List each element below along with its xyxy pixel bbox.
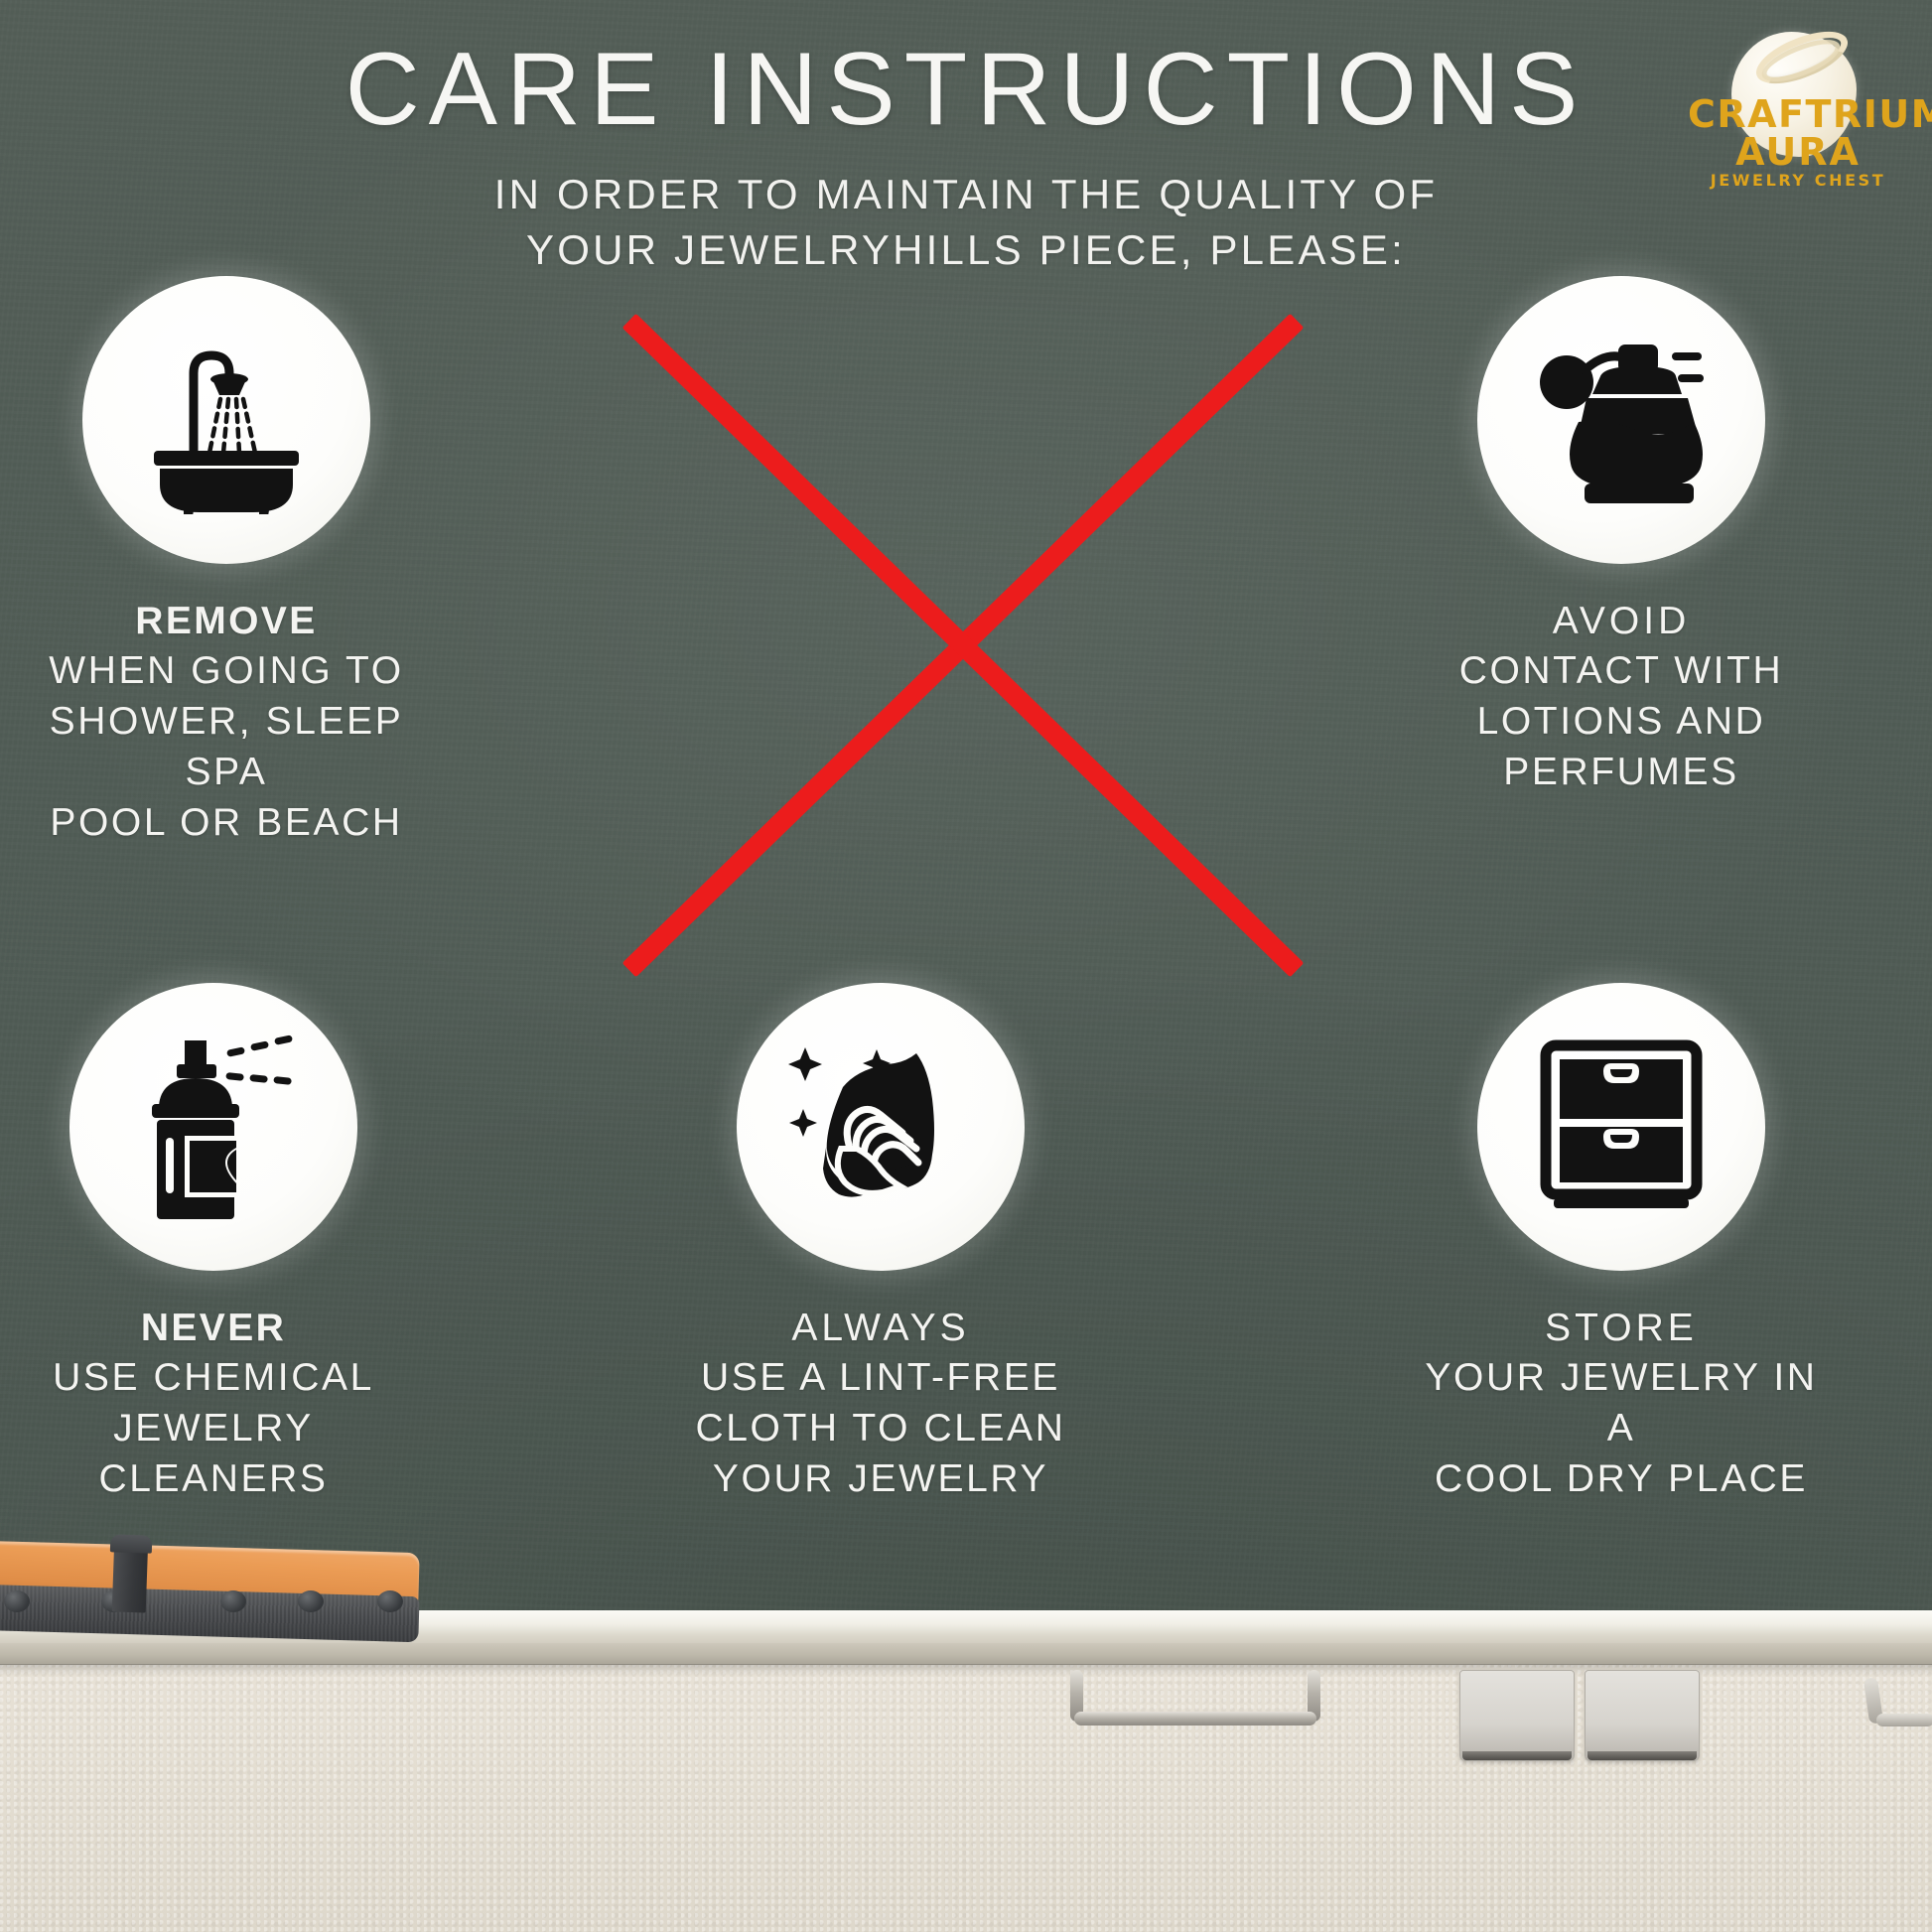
infographic-canvas: CARE INSTRUCTIONS IN ORDER TO MAINTAIN T…: [0, 0, 1932, 1932]
caption-heading: NEVER: [0, 1303, 427, 1353]
hand-polishing-cloth-icon: [783, 1037, 978, 1216]
page-title: CARE INSTRUCTIONS: [0, 36, 1932, 144]
caption-line: YOUR JEWELRY IN A: [1408, 1353, 1835, 1453]
caption-remove: REMOVE WHEN GOING TO SHOWER, SLEEP SPA P…: [13, 596, 440, 848]
caption-heading: AVOID: [1408, 596, 1835, 646]
caption-line: POOL OR BEACH: [13, 798, 440, 849]
bathtub-shower-icon: [132, 326, 321, 514]
icon-badge-always: [737, 983, 1025, 1271]
perfume-bottle-icon: [1527, 331, 1716, 509]
metal-handle-partial: [1866, 1670, 1926, 1727]
icon-badge-remove: [82, 276, 370, 564]
icon-badge-avoid: [1477, 276, 1765, 564]
caption-line: CLEANERS: [0, 1454, 427, 1505]
subtitle-line-1: IN ORDER TO MAINTAIN THE QUALITY OF: [0, 167, 1932, 222]
nightstand-drawers-icon: [1532, 1037, 1711, 1216]
magnet-clip-left: [1459, 1670, 1575, 1761]
caption-line: CONTACT WITH: [1408, 646, 1835, 697]
brand-name-line-1: CRAFTRIUM: [1688, 95, 1908, 133]
page-subtitle: IN ORDER TO MAINTAIN THE QUALITY OF YOUR…: [0, 167, 1932, 278]
care-item-always: ALWAYS USE A LINT-FREE CLOTH TO CLEAN YO…: [667, 983, 1094, 1505]
icon-badge-store: [1477, 983, 1765, 1271]
caption-line: JEWELRY: [0, 1404, 427, 1454]
caption-heading: REMOVE: [13, 596, 440, 646]
care-item-avoid: AVOID CONTACT WITH LOTIONS AND PERFUMES: [1408, 276, 1835, 798]
caption-heading: ALWAYS: [667, 1303, 1094, 1353]
care-item-never: NEVER USE CHEMICAL JEWELRY CLEANERS: [0, 983, 427, 1505]
care-item-remove: REMOVE WHEN GOING TO SHOWER, SLEEP SPA P…: [13, 276, 440, 848]
caption-body: USE CHEMICAL JEWELRY CLEANERS: [0, 1353, 427, 1504]
caption-always: ALWAYS USE A LINT-FREE CLOTH TO CLEAN YO…: [667, 1303, 1094, 1505]
handle-grip: [1876, 1714, 1932, 1726]
caption-line: USE A LINT-FREE: [667, 1353, 1094, 1404]
chalkboard-eraser: [0, 1547, 429, 1654]
caption-line: PERFUMES: [1408, 748, 1835, 798]
handle-grip-bar: [1074, 1712, 1316, 1725]
caption-line: YOUR JEWELRY: [667, 1454, 1094, 1505]
brand-logo[interactable]: CRAFTRIUM AURA JEWELRY CHEST: [1688, 22, 1908, 201]
caption-body: CONTACT WITH LOTIONS AND PERFUMES: [1408, 646, 1835, 797]
icon-badge-never: [69, 983, 357, 1271]
caption-line: CLOTH TO CLEAN: [667, 1404, 1094, 1454]
eraser-strap: [112, 1538, 149, 1612]
brand-tagline: JEWELRY CHEST: [1688, 173, 1908, 189]
care-item-store: STORE YOUR JEWELRY IN A COOL DRY PLACE: [1408, 983, 1835, 1505]
caption-avoid: AVOID CONTACT WITH LOTIONS AND PERFUMES: [1408, 596, 1835, 798]
red-x-cross-icon: [616, 308, 1311, 983]
caption-line: USE CHEMICAL: [0, 1353, 427, 1404]
caption-body: USE A LINT-FREE CLOTH TO CLEAN YOUR JEWE…: [667, 1353, 1094, 1504]
caption-line: COOL DRY PLACE: [1408, 1454, 1835, 1505]
magnet-clip-right: [1585, 1670, 1700, 1761]
subtitle-line-2: YOUR JEWELRYHILLS PIECE, PLEASE:: [0, 222, 1932, 278]
brand-name-line-2: AURA: [1688, 133, 1908, 171]
caption-line: LOTIONS AND: [1408, 697, 1835, 748]
caption-body: YOUR JEWELRY IN A COOL DRY PLACE: [1408, 1353, 1835, 1504]
caption-heading: STORE: [1408, 1303, 1835, 1353]
metal-drawer-handle: [1070, 1670, 1320, 1729]
aerosol-spray-can-icon: [119, 1033, 308, 1221]
caption-body: WHEN GOING TO SHOWER, SLEEP SPA POOL OR …: [13, 646, 440, 848]
caption-line: SHOWER, SLEEP SPA: [13, 697, 440, 797]
caption-store: STORE YOUR JEWELRY IN A COOL DRY PLACE: [1408, 1303, 1835, 1505]
caption-never: NEVER USE CHEMICAL JEWELRY CLEANERS: [0, 1303, 427, 1505]
caption-line: WHEN GOING TO: [13, 646, 440, 697]
